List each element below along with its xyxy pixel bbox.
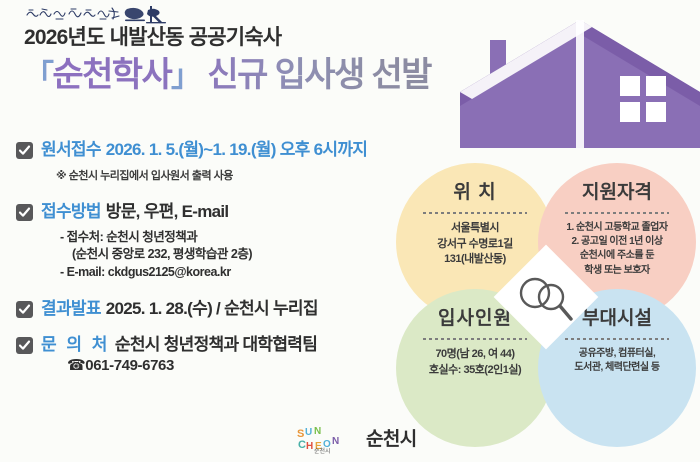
capacity-line-2: 호실수: 35호(2인1실) — [404, 363, 546, 379]
bubble-body-facilities: 공유주방, 컴퓨터실, 도서관, 체력단련실 등 — [546, 347, 688, 375]
info-label-result: 결과발표 — [41, 299, 101, 318]
svg-text:N: N — [332, 436, 339, 447]
bubble-title-eligibility: 지원자격 — [546, 183, 688, 202]
headline-block: 2026년도 내발산동 공공기숙사 「순천학사」 신규 입사생 선발 — [24, 26, 524, 96]
divider — [565, 338, 669, 340]
footer-city-name: 순천시 — [366, 430, 417, 449]
magnifier-icon — [515, 273, 577, 325]
bracket-open: 「 — [24, 60, 52, 93]
divider — [423, 212, 527, 214]
svg-text:N: N — [314, 426, 321, 437]
bubble-body-location: 서울특별시 강서구 수명로1길 131(내발산동) — [404, 221, 546, 268]
info-label-application: 원서접수 — [41, 140, 101, 159]
capacity-line-1: 70명(남 26, 여 44) — [404, 347, 546, 363]
info-row-application: 원서접수2026. 1. 5.(월)~1. 19.(월) 오후 6시까지 — [16, 139, 484, 161]
facilities-line-2: 도서관, 체력단련실 등 — [546, 361, 688, 375]
check-icon — [16, 142, 33, 159]
info-label-contact: 문 의 처 — [41, 335, 110, 354]
eligibility-line-2: 2. 공고일 이전 1년 이상 — [546, 235, 688, 249]
poster-root: 2026년도 내발산동 공공기숙사 「순천학사」 신규 입사생 선발 원서접수2… — [0, 0, 700, 462]
svg-text:U: U — [305, 427, 312, 438]
location-line-2: 강서구 수명로1길 — [404, 237, 546, 253]
eligibility-line-1: 1. 순천시 고등학교 졸업자 — [546, 221, 688, 235]
city-brand-mark — [24, 2, 169, 26]
info-value-application: 2026. 1. 5.(월)~1. 19.(월) 오후 6시까지 — [106, 140, 367, 159]
check-icon — [16, 337, 33, 354]
location-line-1: 서울특별시 — [404, 221, 546, 237]
page-title: 「순천학사」 신규 입사생 선발 — [24, 55, 524, 96]
info-value-method: 방문, 우편, E-mail — [106, 202, 229, 221]
info-value-result: 2025. 1. 28.(수) / 순천시 누리집 — [106, 299, 318, 318]
bracket-close: 」 — [171, 60, 199, 93]
divider — [423, 338, 527, 340]
title-rest: 신규 입사생 선발 — [207, 56, 430, 94]
footer-logo: S U N C H E O N 순천시 순천시 — [296, 424, 417, 454]
facilities-line-1: 공유주방, 컴퓨터실, — [546, 347, 688, 361]
bubble-body-capacity: 70명(남 26, 여 44) 호실수: 35호(2인1실) — [404, 347, 546, 378]
info-label-method: 접수방법 — [41, 202, 101, 221]
eligibility-line-3: 순천시에 주소를 둔 — [546, 249, 688, 263]
bubble-title-location: 위 치 — [404, 183, 546, 202]
check-icon — [16, 204, 33, 221]
svg-text:C: C — [298, 439, 306, 451]
info-bubble-cluster: 위 치 서울특별시 강서구 수명로1길 131(내발산동) 지원자격 1. 순천… — [396, 163, 696, 447]
brand-name: 순천학사 — [52, 56, 171, 94]
svg-text:H: H — [306, 441, 313, 452]
svg-text:순천시: 순천시 — [314, 447, 331, 454]
info-value-contact: 순천시 청년정책과 대학협력팀 — [115, 335, 317, 354]
divider — [565, 212, 669, 214]
suncheon-emblem-icon: S U N C H E O N 순천시 — [296, 424, 358, 454]
eyebrow-text: 2026년도 내발산동 공공기숙사 — [24, 26, 524, 51]
check-icon — [16, 301, 33, 318]
